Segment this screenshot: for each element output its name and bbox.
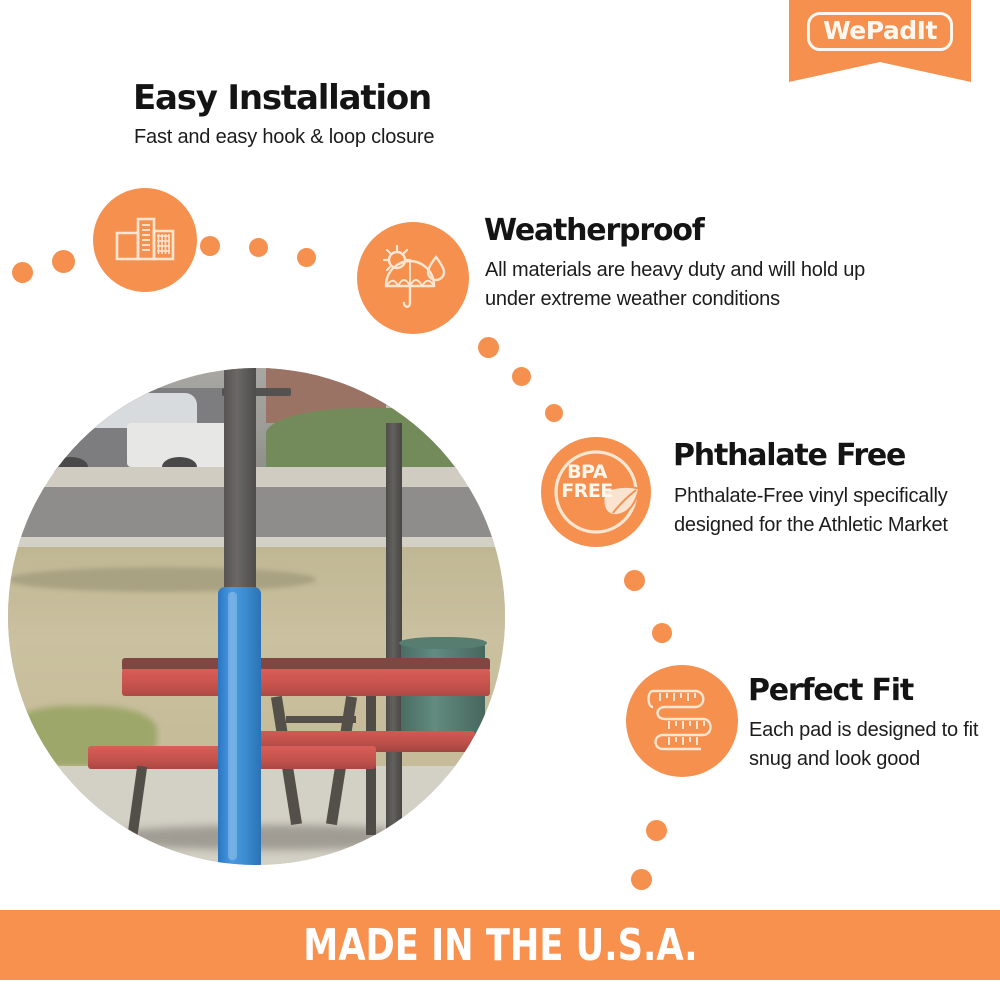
photo-pole-right [386,423,402,831]
product-photo [8,368,505,865]
trail-dot [652,623,672,643]
photo-pad-highlight [228,592,237,860]
trail-dot [545,404,563,422]
trail-dot [512,367,531,386]
trail-dot [631,869,652,890]
feature-description-perfect-fit: Each pad is designed to fit snug and loo… [749,716,979,774]
bpa-free-label: BPA FREE [541,463,633,501]
photo-grass-patch [8,567,316,592]
feature-description-weatherproof: All materials are heavy duty and will ho… [485,256,915,314]
bpa-free-leaf-icon: BPA FREE [541,437,651,547]
photo-table-top [122,669,490,696]
umbrella-sun-raindrop-icon [376,243,450,313]
photo-pole-main [224,368,256,597]
infographic-root: WePadIt Easy Installation Fast and easy … [0,0,1000,987]
trail-dot [12,262,33,283]
bpa-free-line2: FREE [561,480,613,502]
logo-text-it: It [917,16,937,45]
logo-text-pad: Pad [866,16,917,45]
feature-title-phthalate-free: Phthalate Free [673,438,905,473]
feature-description-easy-installation: Fast and easy hook & loop closure [134,124,564,151]
feature-title-easy-installation: Easy Installation [133,78,431,118]
photo-shadow [97,825,445,850]
photo-house-two [386,368,505,413]
measuring-tape-icon [643,679,721,763]
trail-dot [297,248,316,267]
feature-icon-phthalate-free: BPA FREE [541,437,651,547]
feature-description-phthalate-free: Phthalate-Free vinyl specifically design… [674,482,954,540]
feature-icon-easy-installation [93,188,197,292]
trail-dot [646,820,667,841]
trail-dot [249,238,268,257]
made-in-usa-banner: MADE IN THE U.S.A. [0,910,1000,980]
photo-road [8,487,505,542]
feature-title-perfect-fit: Perfect Fit [748,673,913,708]
building-icon [114,213,176,267]
logo-frame: WePadIt [807,12,953,51]
trail-dot [624,570,645,591]
logo-text-we: We [823,16,866,45]
feature-icon-perfect-fit [626,665,738,777]
made-in-usa-text: MADE IN THE U.S.A. [303,920,697,971]
photo-table-brace [286,716,356,723]
logo-text: WePadIt [823,16,937,45]
trail-dot [200,236,220,256]
brand-logo-badge: WePadIt [789,0,971,62]
trail-dot [52,250,75,273]
photo-blue-post-pad [218,587,261,865]
feature-icon-weatherproof [357,222,469,334]
photo-trash-can-rim [399,637,487,649]
trail-dot [478,337,499,358]
feature-title-weatherproof: Weatherproof [484,213,704,248]
